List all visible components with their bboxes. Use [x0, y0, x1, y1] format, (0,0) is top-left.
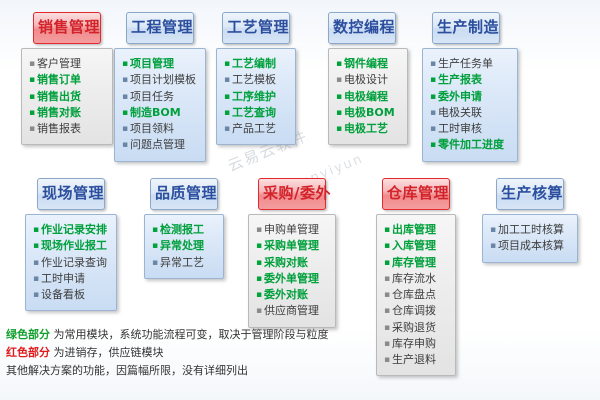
module-item[interactable]: ▪问题点管理 — [120, 137, 200, 153]
bullet-icon: ▪ — [27, 76, 37, 85]
module-body-production-manufacturing: ▪生产任务单▪生产报表▪委外申请▪电极关联▪工时审核▪零件加工进度 — [422, 48, 518, 162]
module-item-label: 现场作业报工 — [41, 238, 107, 254]
module-warehouse-management: 仓库管理▪出库管理▪入库管理▪库存管理▪库存流水▪仓库盘点▪仓库调拨▪采购退货▪… — [382, 178, 456, 376]
bullet-icon: ▪ — [382, 307, 392, 316]
module-item[interactable]: ▪客户管理 — [27, 56, 107, 72]
module-header-quality-management[interactable]: 品质管理 — [150, 178, 218, 210]
module-item[interactable]: ▪工艺模板 — [222, 72, 290, 88]
legend-row-red: 红色部分 为进销存，供应链模块 — [6, 344, 329, 362]
module-item[interactable]: ▪工时审核 — [428, 121, 512, 137]
module-item[interactable]: ▪电极设计 — [334, 72, 402, 88]
module-item[interactable]: ▪仓库盘点 — [382, 287, 450, 303]
module-item[interactable]: ▪销售出货 — [27, 89, 107, 105]
module-item-label: 作业记录查询 — [41, 255, 107, 271]
module-item-label: 生产报表 — [438, 72, 482, 88]
module-item-label: 项目任务 — [130, 89, 174, 105]
module-item[interactable]: ▪项目管理 — [120, 56, 200, 72]
module-item-list: ▪钢件编程▪电极设计▪电极编程▪电极BOM▪电极工艺 — [334, 56, 402, 137]
bullet-icon: ▪ — [254, 275, 264, 284]
module-item-label: 项目管理 — [130, 56, 174, 72]
module-body-quality-management: ▪检测报工▪异常处理▪异常工艺 — [144, 214, 224, 279]
module-cnc-programming: 数控编程▪钢件编程▪电极设计▪电极编程▪电极BOM▪电极工艺 — [328, 12, 408, 145]
bullet-icon: ▪ — [488, 242, 498, 251]
bullet-icon: ▪ — [150, 242, 160, 251]
module-item-label: 销售报表 — [37, 121, 81, 137]
module-item[interactable]: ▪产品工艺 — [222, 121, 290, 137]
module-item[interactable]: ▪异常工艺 — [150, 255, 218, 271]
module-item-label: 工艺查询 — [232, 105, 276, 121]
module-item[interactable]: ▪电极关联 — [428, 105, 512, 121]
bullet-icon: ▪ — [334, 125, 344, 134]
module-production-accounting: 生产核算▪加工工时核算▪项目成本核算 — [496, 178, 578, 263]
module-item[interactable]: ▪电极工艺 — [334, 121, 402, 137]
module-item[interactable]: ▪入库管理 — [382, 238, 450, 254]
module-item[interactable]: ▪委外单管理 — [254, 271, 330, 287]
bullet-icon: ▪ — [27, 125, 37, 134]
module-item[interactable]: ▪销售报表 — [27, 121, 107, 137]
module-header-sales-management[interactable]: 销售管理 — [33, 12, 101, 44]
module-item[interactable]: ▪委外对账 — [254, 287, 330, 303]
module-item-label: 仓库盘点 — [392, 287, 436, 303]
module-purchasing-outsourcing: 采购/委外▪申购单管理▪采购单管理▪采购对账▪委外单管理▪委外对账▪供应商管理 — [258, 178, 336, 328]
module-item-label: 零件加工进度 — [438, 137, 504, 153]
bullet-icon: ▪ — [27, 109, 37, 118]
bullet-icon: ▪ — [31, 226, 41, 235]
module-item[interactable]: ▪仓库调拨 — [382, 303, 450, 319]
module-item[interactable]: ▪工艺查询 — [222, 105, 290, 121]
module-body-purchasing-outsourcing: ▪申购单管理▪采购单管理▪采购对账▪委外单管理▪委外对账▪供应商管理 — [248, 214, 336, 328]
module-body-shopfloor-management: ▪作业记录安排▪现场作业报工▪作业记录查询▪工时申请▪设备看板 — [25, 214, 117, 311]
bullet-icon: ▪ — [222, 76, 232, 85]
module-item-label: 电极关联 — [438, 105, 482, 121]
module-item-label: 生产退料 — [392, 352, 436, 368]
module-item-label: 电极设计 — [344, 72, 388, 88]
module-item-label: 工艺编制 — [232, 56, 276, 72]
legend: 绿色部分 为常用模块，系统功能流程可变，取决于管理阶段与粒度 红色部分 为进销存… — [6, 326, 329, 380]
module-item-label: 项目领料 — [130, 121, 174, 137]
legend-red-text: 为进销存，供应链模块 — [54, 346, 164, 359]
module-item[interactable]: ▪零件加工进度 — [428, 137, 512, 153]
module-item[interactable]: ▪作业记录查询 — [31, 255, 111, 271]
module-item-label: 采购单管理 — [264, 238, 319, 254]
bullet-icon: ▪ — [254, 242, 264, 251]
module-item-label: 入库管理 — [392, 238, 436, 254]
module-body-production-accounting: ▪加工工时核算▪项目成本核算 — [482, 214, 578, 263]
module-item-label: 加工工时核算 — [498, 222, 564, 238]
module-item-label: 工序维护 — [232, 89, 276, 105]
module-item[interactable]: ▪项目任务 — [120, 89, 200, 105]
module-header-production-accounting[interactable]: 生产核算 — [496, 178, 564, 210]
module-item[interactable]: ▪加工工时核算 — [488, 222, 572, 238]
bullet-icon: ▪ — [31, 275, 41, 284]
bullet-icon: ▪ — [382, 324, 392, 333]
module-production-manufacturing: 生产制造▪生产任务单▪生产报表▪委外申请▪电极关联▪工时审核▪零件加工进度 — [432, 12, 518, 162]
bullet-icon: ▪ — [254, 291, 264, 300]
bullet-icon: ▪ — [31, 242, 41, 251]
module-item-label: 供应商管理 — [264, 303, 319, 319]
bullet-icon: ▪ — [382, 275, 392, 284]
module-item-list: ▪生产任务单▪生产报表▪委外申请▪电极关联▪工时审核▪零件加工进度 — [428, 56, 512, 154]
bullet-icon: ▪ — [120, 109, 130, 118]
module-item-label: 销售对账 — [37, 105, 81, 121]
bullet-icon: ▪ — [150, 226, 160, 235]
module-item-label: 产品工艺 — [232, 121, 276, 137]
bullet-icon: ▪ — [488, 226, 498, 235]
module-header-cnc-programming[interactable]: 数控编程 — [328, 12, 396, 44]
module-item-label: 设备看板 — [41, 287, 85, 303]
module-process-management: 工艺管理▪工艺编制▪工艺模板▪工序维护▪工艺查询▪产品工艺 — [222, 12, 296, 145]
bullet-icon: ▪ — [120, 141, 130, 150]
bullet-icon: ▪ — [334, 93, 344, 102]
module-body-engineering-management: ▪项目管理▪项目计划模板▪项目任务▪制造BOM▪项目领料▪问题点管理 — [114, 48, 206, 162]
bullet-icon: ▪ — [428, 60, 438, 69]
module-item-label: 销售出货 — [37, 89, 81, 105]
module-item[interactable]: ▪出库管理 — [382, 222, 450, 238]
module-item-label: 采购对账 — [264, 255, 308, 271]
module-quality-management: 品质管理▪检测报工▪异常处理▪异常工艺 — [150, 178, 224, 279]
module-item-label: 出库管理 — [392, 222, 436, 238]
bullet-icon: ▪ — [31, 291, 41, 300]
bullet-icon: ▪ — [254, 307, 264, 316]
module-item-label: 项目成本核算 — [498, 238, 564, 254]
bullet-icon: ▪ — [428, 109, 438, 118]
module-item-label: 仓库调拨 — [392, 303, 436, 319]
bullet-icon: ▪ — [120, 76, 130, 85]
module-item-label: 工时审核 — [438, 121, 482, 137]
module-item-label: 制造BOM — [130, 105, 181, 121]
bullet-icon: ▪ — [334, 76, 344, 85]
module-item-label: 采购退货 — [392, 320, 436, 336]
bullet-icon: ▪ — [120, 93, 130, 102]
legend-red-tag: 红色部分 — [6, 346, 50, 359]
bullet-icon: ▪ — [334, 60, 344, 69]
module-engineering-management: 工程管理▪项目管理▪项目计划模板▪项目任务▪制造BOM▪项目领料▪问题点管理 — [126, 12, 206, 162]
module-item[interactable]: ▪采购退货 — [382, 320, 450, 336]
bullet-icon: ▪ — [27, 93, 37, 102]
module-item-label: 库存管理 — [392, 255, 436, 271]
bullet-icon: ▪ — [428, 93, 438, 102]
module-item[interactable]: ▪项目成本核算 — [488, 238, 572, 254]
legend-green-tag: 绿色部分 — [6, 328, 50, 341]
module-header-purchasing-outsourcing[interactable]: 采购/委外 — [258, 178, 326, 210]
module-header-shopfloor-management[interactable]: 现场管理 — [37, 178, 105, 210]
module-item-label: 委外单管理 — [264, 271, 319, 287]
module-item[interactable]: ▪生产报表 — [428, 72, 512, 88]
bullet-icon: ▪ — [27, 60, 37, 69]
module-item-label: 销售订单 — [37, 72, 81, 88]
module-item[interactable]: ▪现场作业报工 — [31, 238, 111, 254]
module-header-process-management[interactable]: 工艺管理 — [222, 12, 290, 44]
module-item[interactable]: ▪采购对账 — [254, 255, 330, 271]
module-item[interactable]: ▪异常处理 — [150, 238, 218, 254]
bullet-icon: ▪ — [382, 291, 392, 300]
module-item-label: 电极工艺 — [344, 121, 388, 137]
legend-row-green: 绿色部分 为常用模块，系统功能流程可变，取决于管理阶段与粒度 — [6, 326, 329, 344]
bullet-icon: ▪ — [382, 356, 392, 365]
module-item[interactable]: ▪电极编程 — [334, 89, 402, 105]
module-item[interactable]: ▪生产退料 — [382, 352, 450, 368]
module-item-list: ▪加工工时核算▪项目成本核算 — [488, 222, 572, 255]
module-item[interactable]: ▪委外申请 — [428, 89, 512, 105]
module-item-list: ▪作业记录安排▪现场作业报工▪作业记录查询▪工时申请▪设备看板 — [31, 222, 111, 303]
module-item-label: 检测报工 — [160, 222, 204, 238]
module-item-label: 作业记录安排 — [41, 222, 107, 238]
module-item-list: ▪检测报工▪异常处理▪异常工艺 — [150, 222, 218, 271]
module-item-label: 工艺模板 — [232, 72, 276, 88]
module-item[interactable]: ▪钢件编程 — [334, 56, 402, 72]
module-item[interactable]: ▪销售对账 — [27, 105, 107, 121]
bullet-icon: ▪ — [120, 60, 130, 69]
bullet-icon: ▪ — [254, 259, 264, 268]
module-item[interactable]: ▪库存流水 — [382, 271, 450, 287]
module-item-label: 工时申请 — [41, 271, 85, 287]
module-item-list: ▪出库管理▪入库管理▪库存管理▪库存流水▪仓库盘点▪仓库调拨▪采购退货▪库存申购… — [382, 222, 450, 368]
legend-row-note: 其他解决方案的功能，因篇幅所限，没有详细列出 — [6, 362, 329, 380]
module-item-label: 生产任务单 — [438, 56, 493, 72]
legend-green-text: 为常用模块，系统功能流程可变，取决于管理阶段与粒度 — [54, 328, 329, 341]
bullet-icon: ▪ — [31, 259, 41, 268]
module-header-engineering-management[interactable]: 工程管理 — [126, 12, 194, 44]
module-shopfloor-management: 现场管理▪作业记录安排▪现场作业报工▪作业记录查询▪工时申请▪设备看板 — [37, 178, 117, 311]
bullet-icon: ▪ — [222, 109, 232, 118]
module-item[interactable]: ▪生产任务单 — [428, 56, 512, 72]
module-item[interactable]: ▪工艺编制 — [222, 56, 290, 72]
bullet-icon: ▪ — [382, 340, 392, 349]
module-header-production-manufacturing[interactable]: 生产制造 — [432, 12, 500, 44]
module-item-list: ▪项目管理▪项目计划模板▪项目任务▪制造BOM▪项目领料▪问题点管理 — [120, 56, 200, 154]
bullet-icon: ▪ — [382, 242, 392, 251]
module-item-list: ▪申购单管理▪采购单管理▪采购对账▪委外单管理▪委外对账▪供应商管理 — [254, 222, 330, 320]
module-item[interactable]: ▪检测报工 — [150, 222, 218, 238]
module-item-label: 项目计划模板 — [130, 72, 196, 88]
legend-note-text: 其他解决方案的功能，因篇幅所限，没有详细列出 — [6, 364, 248, 377]
module-item-label: 委外对账 — [264, 287, 308, 303]
module-item[interactable]: ▪项目计划模板 — [120, 72, 200, 88]
module-item-label: 异常处理 — [160, 238, 204, 254]
module-item[interactable]: ▪库存申购 — [382, 336, 450, 352]
module-item[interactable]: ▪销售订单 — [27, 72, 107, 88]
module-item[interactable]: ▪作业记录安排 — [31, 222, 111, 238]
module-item[interactable]: ▪库存管理 — [382, 255, 450, 271]
module-item-label: 问题点管理 — [130, 137, 185, 153]
module-item-label: 库存流水 — [392, 271, 436, 287]
module-item-list: ▪工艺编制▪工艺模板▪工序维护▪工艺查询▪产品工艺 — [222, 56, 290, 137]
bullet-icon: ▪ — [254, 226, 264, 235]
module-item[interactable]: ▪制造BOM — [120, 105, 200, 121]
module-item-label: 异常工艺 — [160, 255, 204, 271]
module-item[interactable]: ▪采购单管理 — [254, 238, 330, 254]
module-header-warehouse-management[interactable]: 仓库管理 — [382, 178, 450, 210]
module-item-label: 电极编程 — [344, 89, 388, 105]
bullet-icon: ▪ — [382, 226, 392, 235]
module-sales-management: 销售管理▪客户管理▪销售订单▪销售出货▪销售对账▪销售报表 — [33, 12, 113, 145]
bullet-icon: ▪ — [222, 60, 232, 69]
module-item[interactable]: ▪项目领料 — [120, 121, 200, 137]
module-item-label: 钢件编程 — [344, 56, 388, 72]
module-item[interactable]: ▪工序维护 — [222, 89, 290, 105]
bullet-icon: ▪ — [428, 76, 438, 85]
bullet-icon: ▪ — [428, 141, 438, 150]
module-item-label: 库存申购 — [392, 336, 436, 352]
bullet-icon: ▪ — [150, 259, 160, 268]
module-body-cnc-programming: ▪钢件编程▪电极设计▪电极编程▪电极BOM▪电极工艺 — [328, 48, 408, 145]
module-item-label: 委外申请 — [438, 89, 482, 105]
module-body-process-management: ▪工艺编制▪工艺模板▪工序维护▪工艺查询▪产品工艺 — [216, 48, 296, 145]
module-item-label: 申购单管理 — [264, 222, 319, 238]
bullet-icon: ▪ — [428, 125, 438, 134]
module-body-warehouse-management: ▪出库管理▪入库管理▪库存管理▪库存流水▪仓库盘点▪仓库调拨▪采购退货▪库存申购… — [376, 214, 456, 376]
module-item[interactable]: ▪电极BOM — [334, 105, 402, 121]
diagram-canvas: 云易云软件 yunyiyun 销售管理▪客户管理▪销售订单▪销售出货▪销售对账▪… — [0, 0, 600, 400]
module-item[interactable]: ▪设备看板 — [31, 287, 111, 303]
module-body-sales-management: ▪客户管理▪销售订单▪销售出货▪销售对账▪销售报表 — [21, 48, 113, 145]
bullet-icon: ▪ — [382, 259, 392, 268]
bullet-icon: ▪ — [120, 125, 130, 134]
module-item-label: 客户管理 — [37, 56, 81, 72]
module-item[interactable]: ▪申购单管理 — [254, 222, 330, 238]
bullet-icon: ▪ — [222, 125, 232, 134]
module-item[interactable]: ▪工时申请 — [31, 271, 111, 287]
bullet-icon: ▪ — [334, 109, 344, 118]
module-item[interactable]: ▪供应商管理 — [254, 303, 330, 319]
bullet-icon: ▪ — [222, 93, 232, 102]
module-item-label: 电极BOM — [344, 105, 395, 121]
module-item-list: ▪客户管理▪销售订单▪销售出货▪销售对账▪销售报表 — [27, 56, 107, 137]
